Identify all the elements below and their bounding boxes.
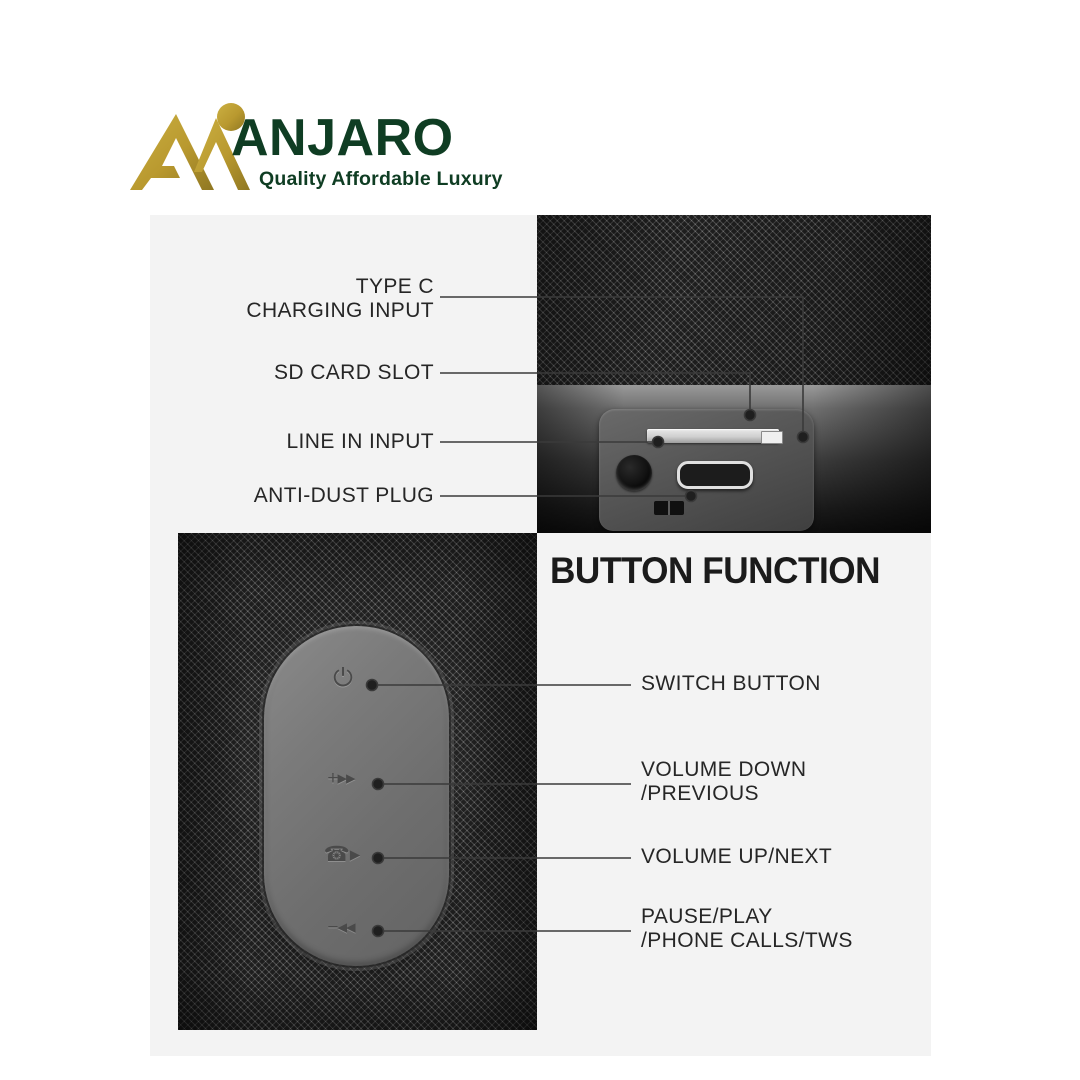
callout-line-in-input: LINE IN INPUT: [200, 430, 434, 454]
aux-line-in-jack: [616, 455, 652, 491]
port-plate: [599, 409, 814, 531]
brand-logo: ANJARO Quality Affordable Luxury: [128, 100, 548, 200]
callout-pause-play-phone-calls-tws: PAUSE/PLAY /PHONE CALLS/TWS: [641, 905, 931, 953]
callout-sd-card-slot: SD CARD SLOT: [200, 361, 434, 385]
callout-switch-button: SWITCH BUTTON: [641, 672, 931, 696]
callout-volume-down-previous: VOLUME DOWN /PREVIOUS: [641, 758, 931, 806]
brand-tagline: Quality Affordable Luxury: [259, 168, 551, 191]
brand-name: ANJARO: [231, 112, 551, 164]
phone-call-icon: ☎▸: [312, 844, 372, 865]
sd-card-tab: [761, 431, 783, 444]
speaker-mesh-top: [537, 215, 931, 385]
power-icon: ⏻: [320, 666, 366, 691]
ports-photo: [537, 215, 931, 533]
control-pad: ⏻ +▸▸ ☎▸ −◂◂: [264, 626, 449, 966]
callout-anti-dust-plug: ANTI-DUST PLUG: [184, 484, 434, 508]
fast-forward-icon: +▸▸: [306, 769, 376, 788]
speaker-body-top: [537, 385, 931, 533]
callout-volume-up-next: VOLUME UP/NEXT: [641, 845, 931, 869]
anti-dust-plug: [654, 501, 684, 515]
sd-card-slot: [647, 429, 779, 443]
usb-c-port: [677, 461, 753, 489]
button-function-heading: BUTTON FUNCTION: [550, 550, 880, 592]
rewind-icon: −◂◂: [306, 918, 376, 937]
speaker-front-photo: ⏻ +▸▸ ☎▸ −◂◂: [178, 533, 537, 1030]
callout-type-c-charging-input: TYPE C CHARGING INPUT: [200, 275, 434, 323]
infographic-frame: ⏻ +▸▸ ☎▸ −◂◂ BUTTON FUNCTION: [150, 215, 931, 1056]
